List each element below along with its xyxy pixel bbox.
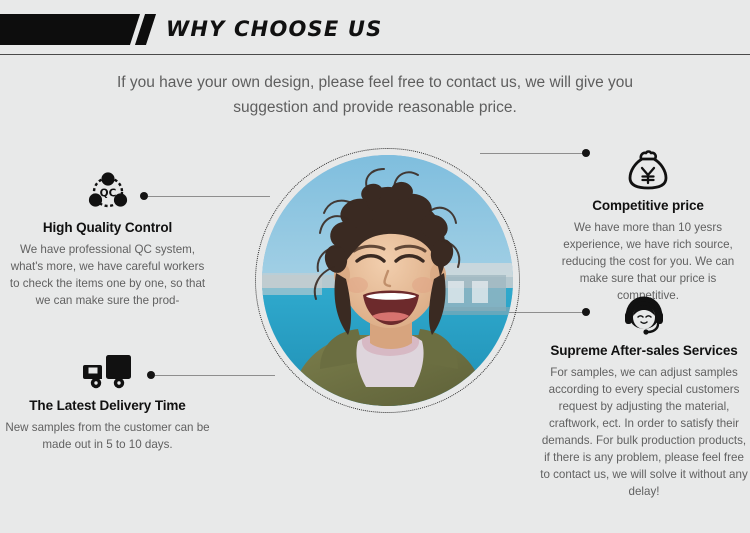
page-title: WHY CHOOSE US <box>166 14 383 45</box>
feature-icon-wrap <box>540 295 748 335</box>
feature-body: We have professional QC system, what's m… <box>5 241 210 309</box>
headset-support-icon <box>622 295 666 335</box>
feature-after-sales-services: Supreme After-sales Services For samples… <box>540 295 748 500</box>
header-banner-bar <box>0 14 140 45</box>
page-header: WHY CHOOSE US <box>0 0 750 56</box>
delivery-truck-icon <box>83 352 133 390</box>
feature-title: Competitive price <box>548 198 748 213</box>
page-subtitle: If you have your own design, please feel… <box>95 70 655 120</box>
feature-body: We have more than 10 yesrs experience, w… <box>548 219 748 304</box>
header-divider <box>0 54 750 55</box>
feature-title: High Quality Control <box>5 220 210 235</box>
money-bag-yen-icon <box>627 150 669 190</box>
feature-quality-control: QC High Quality Control We have professi… <box>5 172 210 309</box>
feature-body: For samples, we can adjust samples accor… <box>540 364 748 500</box>
feature-competitive-price: Competitive price We have more than 10 y… <box>548 150 748 304</box>
feature-delivery-time: The Latest Delivery Time New samples fro… <box>5 352 210 453</box>
feature-icon-wrap <box>5 352 210 390</box>
feature-title: The Latest Delivery Time <box>5 398 210 413</box>
qc-icon-label: QC <box>99 188 116 200</box>
center-photo <box>255 148 520 413</box>
qc-circles-icon: QC <box>86 172 130 212</box>
feature-body: New samples from the customer can be mad… <box>5 419 210 453</box>
feature-title: Supreme After-sales Services <box>540 343 748 358</box>
feature-icon-wrap <box>548 150 748 190</box>
center-photo-dotted-ring <box>255 148 520 413</box>
feature-icon-wrap: QC <box>5 172 210 212</box>
